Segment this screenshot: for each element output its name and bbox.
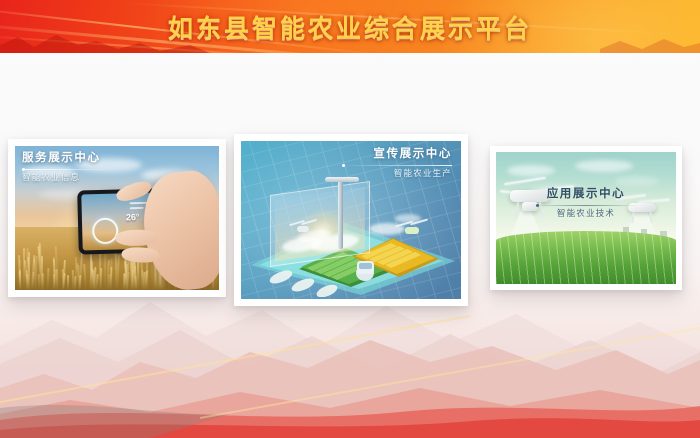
wheat-stalk bbox=[53, 257, 55, 290]
drone-body bbox=[297, 226, 309, 232]
drone-icon bbox=[289, 220, 317, 234]
wheat-stalk bbox=[62, 273, 65, 290]
card-promotion-display-center[interactable]: 宣传展示中心 智能农业生产 bbox=[234, 134, 468, 306]
wheat-stalk bbox=[140, 270, 143, 290]
card-promotion-caption: 宣传展示中心 智能农业生产 bbox=[342, 148, 452, 178]
green-crop-field bbox=[496, 231, 676, 284]
pole-arm bbox=[325, 177, 359, 182]
card-promotion-title: 宣传展示中心 bbox=[342, 148, 452, 161]
smart-light-pole bbox=[338, 179, 343, 249]
caption-rule bbox=[22, 169, 118, 170]
drone-rotor bbox=[410, 219, 428, 225]
wheat-stalk bbox=[84, 264, 88, 290]
wheat-stalk bbox=[19, 271, 21, 290]
wheat-stalk bbox=[116, 255, 119, 290]
finger-shape bbox=[115, 229, 157, 246]
card-service-subtitle: 智能农业信息 bbox=[22, 173, 118, 182]
drone-rotor bbox=[504, 176, 546, 185]
drone-body bbox=[405, 227, 419, 234]
card-application-title: 应用展示中心 bbox=[490, 188, 682, 201]
hud-ring-icon bbox=[92, 218, 119, 245]
card-service-title: 服务展示中心 bbox=[22, 152, 118, 165]
glass-panel bbox=[270, 181, 370, 267]
card-application-caption: 应用展示中心 智能农业技术 bbox=[490, 188, 682, 218]
card-application-display-center[interactable]: 应用展示中心 智能农业技术 bbox=[490, 146, 682, 290]
wheat-stalk bbox=[93, 267, 96, 290]
card-promotion-subtitle: 智能农业生产 bbox=[342, 169, 452, 178]
card-service-caption: 服务展示中心 智能农业信息 bbox=[22, 152, 118, 182]
caption-dot bbox=[536, 204, 539, 207]
hud-bar bbox=[130, 207, 144, 209]
wheat-stalk bbox=[78, 275, 81, 290]
hud-temperature: 26° bbox=[126, 212, 140, 222]
wheat-stalk bbox=[72, 270, 74, 290]
wheat-stalk bbox=[75, 257, 77, 290]
caption-rule bbox=[534, 205, 638, 206]
cloud-shape bbox=[575, 160, 633, 172]
wheat-stalk bbox=[25, 270, 27, 290]
caption-dot bbox=[22, 168, 25, 171]
wheat-stalk bbox=[90, 250, 92, 290]
glass-inner-scene bbox=[275, 187, 365, 262]
foreground-red-ridge bbox=[0, 392, 700, 438]
card-application-subtitle: 智能农业技术 bbox=[490, 209, 682, 218]
page-title: 如东县智能农业综合展示平台 bbox=[0, 0, 700, 53]
caption-rule bbox=[342, 165, 452, 166]
drone-icon bbox=[395, 220, 429, 236]
card-service-display-center[interactable]: 26° 服务展示中心 智能农业信息 bbox=[8, 139, 226, 297]
header-banner: 如东县智能农业综合展示平台 bbox=[0, 0, 700, 53]
poster-stage: 如东县智能农业综合展示平台 bbox=[0, 0, 700, 438]
wheat-stalk bbox=[47, 268, 50, 290]
card-application-image bbox=[496, 152, 676, 284]
caption-dot bbox=[342, 164, 345, 167]
wheat-stalk bbox=[100, 268, 103, 290]
wheat-stalk bbox=[67, 275, 69, 290]
crop-rows bbox=[496, 231, 676, 284]
cloud-shape bbox=[615, 176, 659, 186]
